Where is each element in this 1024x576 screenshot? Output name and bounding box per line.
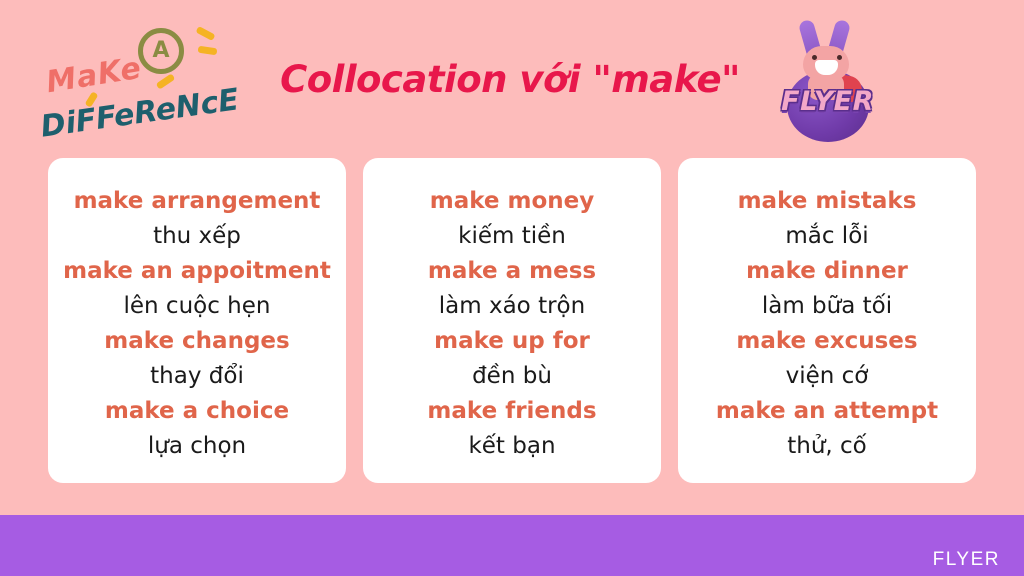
make-a-difference-logo: MaKe A DiFFeReNcE xyxy=(28,10,243,140)
collocation-english: make excuses xyxy=(688,324,966,359)
collocation-english: make up for xyxy=(373,324,651,359)
slide-canvas: MaKe A DiFFeReNcE Collocation với "make"… xyxy=(0,0,1024,576)
sparkle-dash-icon xyxy=(195,26,215,41)
collocation-english: make a choice xyxy=(58,394,336,429)
collocation-english: make a mess xyxy=(373,254,651,289)
slide-footer: FLYER xyxy=(0,515,1024,576)
flyer-badge-label: FLYER xyxy=(770,86,885,117)
sparkle-dash-icon xyxy=(156,73,176,89)
collocation-english: make mistaks xyxy=(688,184,966,219)
collocation-vietnamese: làm xáo trộn xyxy=(373,289,651,324)
collocation-vietnamese: thử, cố xyxy=(688,429,966,464)
collocation-english: make an attempt xyxy=(688,394,966,429)
collocation-vietnamese: lên cuộc hẹn xyxy=(58,289,336,324)
collocation-vietnamese: thu xếp xyxy=(58,219,336,254)
collocation-vietnamese: viện cớ xyxy=(688,359,966,394)
collocation-vietnamese: đền bù xyxy=(373,359,651,394)
collocation-english: make changes xyxy=(58,324,336,359)
collocation-english: make dinner xyxy=(688,254,966,289)
collocation-vietnamese: mắc lỗi xyxy=(688,219,966,254)
collocation-card-list: make arrangement thu xếp make an appoitm… xyxy=(48,158,976,483)
mascot-eye-right-icon xyxy=(837,55,842,60)
flyer-mascot-badge: FLYER xyxy=(770,18,885,140)
collocation-card-1: make arrangement thu xếp make an appoitm… xyxy=(48,158,346,483)
collocation-vietnamese: kết bạn xyxy=(373,429,651,464)
collocation-vietnamese: kiếm tiền xyxy=(373,219,651,254)
slide-header: MaKe A DiFFeReNcE Collocation với "make"… xyxy=(0,0,1024,150)
collocation-card-2: make money kiếm tiền make a mess làm xáo… xyxy=(363,158,661,483)
collocation-english: make an appoitment xyxy=(58,254,336,289)
collocation-english: make friends xyxy=(373,394,651,429)
collocation-vietnamese: lựa chọn xyxy=(58,429,336,464)
logo-letter-a: A xyxy=(138,28,184,74)
page-title: Collocation với "make" xyxy=(250,58,770,101)
collocation-english: make money xyxy=(373,184,651,219)
sparkle-dash-icon xyxy=(198,46,218,56)
collocation-english: make arrangement xyxy=(58,184,336,219)
collocation-card-3: make mistaks mắc lỗi make dinner làm bữa… xyxy=(678,158,976,483)
collocation-vietnamese: làm bữa tối xyxy=(688,289,966,324)
mascot-eye-left-icon xyxy=(812,55,817,60)
footer-brand-label: FLYER xyxy=(933,549,1000,571)
collocation-vietnamese: thay đổi xyxy=(58,359,336,394)
